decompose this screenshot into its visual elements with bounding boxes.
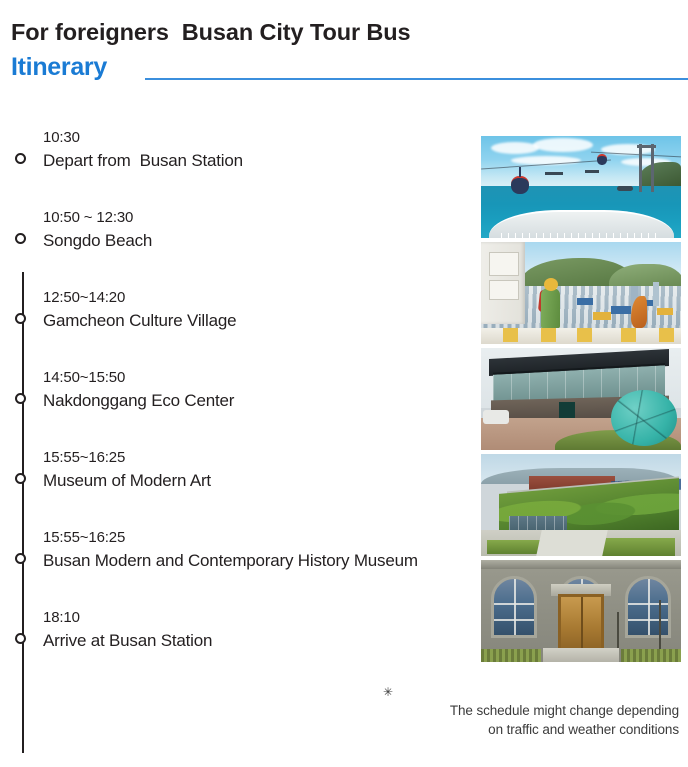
header-divider-rule [145,78,688,80]
stop-time: 15:55~16:25 [43,448,211,468]
timeline-dot-icon [15,473,26,484]
itinerary-timeline: 10:30 Depart from Busan Station 10:50 ~ … [0,120,470,660]
timeline-stop-5: 15:55~16:25 Museum of Modern Art [0,448,470,528]
stop-time: 14:50~15:50 [43,368,234,388]
photo-column [481,136,681,666]
stop-time: 10:30 [43,128,243,148]
timeline-stop-text: 14:50~15:50 Nakdonggang Eco Center [43,368,234,414]
timeline-stop-2: 10:50 ~ 12:30 Songdo Beach [0,208,470,288]
timeline-stop-text: 18:10 Arrive at Busan Station [43,608,212,654]
stop-place: Nakdonggang Eco Center [43,388,234,414]
timeline-stop-6: 15:55~16:25 Busan Modern and Contemporar… [0,528,470,608]
disclaimer-text: The schedule might change depending on t… [450,703,679,737]
busan-modern-history-museum-photo [481,560,681,662]
timeline-stop-text: 12:50~14:20 Gamcheon Culture Village [43,288,236,334]
nakdonggang-eco-center-photo [481,348,681,450]
stop-place: Busan Modern and Contemporary History Mu… [43,548,418,574]
timeline-dot-icon [15,393,26,404]
songdo-beach-cable-car-photo [481,136,681,238]
stop-place: Museum of Modern Art [43,468,211,494]
timeline-stop-text: 10:50 ~ 12:30 Songdo Beach [43,208,152,254]
timeline-stop-text: 15:55~16:25 Museum of Modern Art [43,448,211,494]
timeline-stop-text: 15:55~16:25 Busan Modern and Contemporar… [43,528,418,574]
timeline-stop-7: 18:10 Arrive at Busan Station [0,608,470,688]
timeline-stop-text: 10:30 Depart from Busan Station [43,128,243,174]
timeline-dot-icon [15,153,26,164]
stop-time: 15:55~16:25 [43,528,418,548]
timeline-dot-icon [15,553,26,564]
stop-place: Arrive at Busan Station [43,628,212,654]
stop-place: Depart from Busan Station [43,148,243,174]
gamcheon-culture-village-photo [481,242,681,344]
timeline-stop-1: 10:30 Depart from Busan Station [0,128,470,208]
museum-of-modern-art-photo [481,454,681,556]
stop-time: 12:50~14:20 [43,288,236,308]
stop-place: Gamcheon Culture Village [43,308,236,334]
page-title: For foreigners Busan City Tour Bus [11,19,411,46]
asterisk-icon: ✳ [383,683,393,702]
timeline-dot-icon [15,633,26,644]
timeline-stop-3: 12:50~14:20 Gamcheon Culture Village [0,288,470,368]
timeline-stop-4: 14:50~15:50 Nakdonggang Eco Center [0,368,470,448]
stop-place: Songdo Beach [43,228,152,254]
timeline-dot-icon [15,313,26,324]
timeline-dot-icon [15,233,26,244]
stop-time: 18:10 [43,608,212,628]
stop-time: 10:50 ~ 12:30 [43,208,152,228]
page-header: For foreigners Busan City Tour Bus Itine… [0,0,688,96]
page-subtitle: Itinerary [11,53,107,82]
schedule-disclaimer: ✳The schedule might change depending on … [379,682,679,739]
